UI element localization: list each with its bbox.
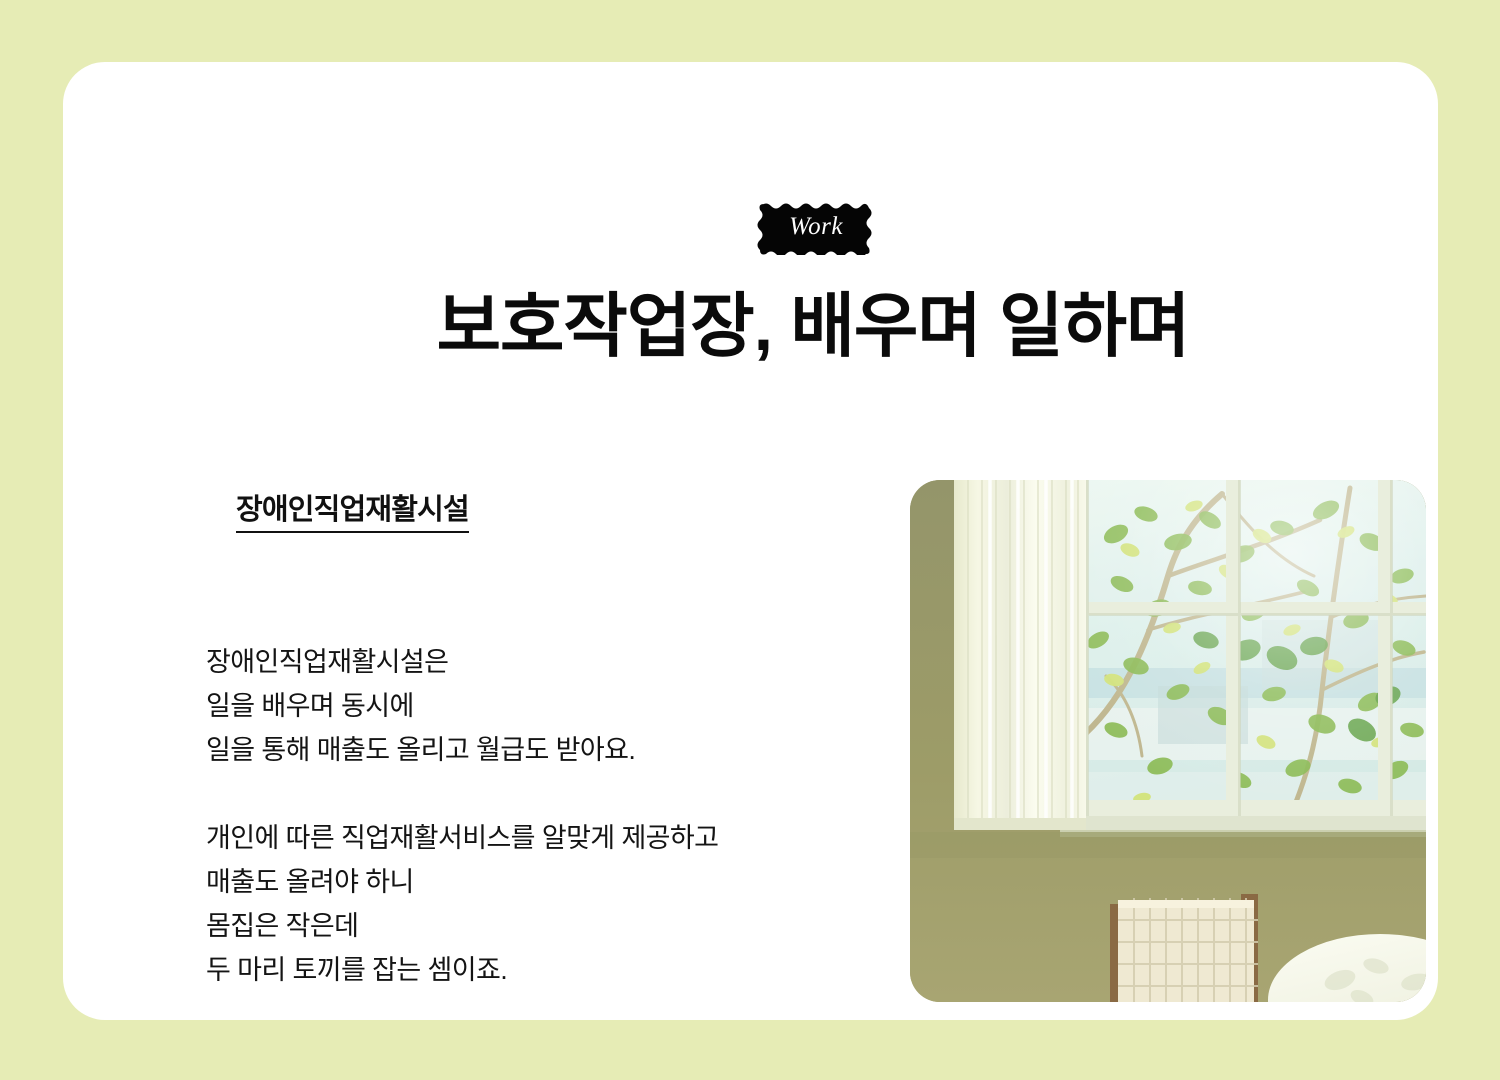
body-line: 장애인직업재활시설은 xyxy=(206,640,866,684)
body-paragraph: 개인에 따른 직업재활서비스를 알맞게 제공하고매출도 올려야 하니몸집은 작은… xyxy=(206,816,866,992)
body-line: 몸집은 작은데 xyxy=(206,904,866,948)
body-copy: 장애인직업재활시설은일을 배우며 동시에일을 통해 매출도 올리고 월급도 받아… xyxy=(206,640,866,992)
body-line: 일을 통해 매출도 올리고 월급도 받아요. xyxy=(206,728,866,772)
body-line: 개인에 따른 직업재활서비스를 알맞게 제공하고 xyxy=(206,816,866,860)
sheer-curtain xyxy=(954,480,1086,830)
body-line: 두 마리 토끼를 잡는 셈이죠. xyxy=(206,948,866,992)
woven-chair xyxy=(1110,894,1258,1002)
section-subtitle: 장애인직업재활시설 xyxy=(236,486,469,533)
sunlit-window-interior-photo xyxy=(910,480,1426,1002)
content-card: Work 보호작업장, 배우며 일하며 장애인직업재활시설 장애인직업재활시설은… xyxy=(63,62,1438,1020)
page-title: 보호작업장, 배우며 일하며 xyxy=(63,288,1500,365)
body-line: 일을 배우며 동시에 xyxy=(206,684,866,728)
work-badge-label: Work xyxy=(753,201,879,255)
body-paragraph: 장애인직업재활시설은일을 배우며 동시에일을 통해 매출도 올리고 월급도 받아… xyxy=(206,640,866,772)
body-line: 매출도 올려야 하니 xyxy=(206,860,866,904)
photo-illustration xyxy=(910,480,1426,1002)
work-badge: Work xyxy=(753,201,879,255)
